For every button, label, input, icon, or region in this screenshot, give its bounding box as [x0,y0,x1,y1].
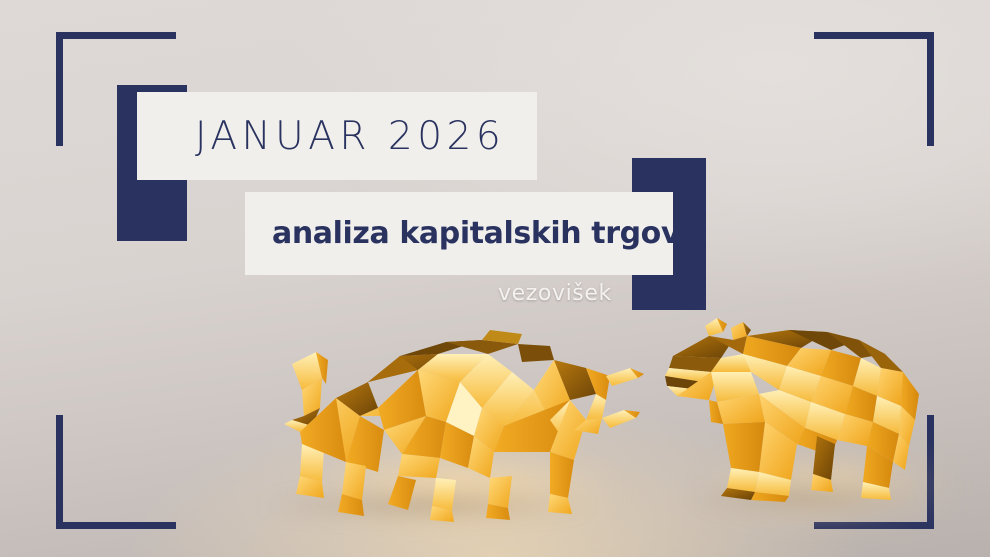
bull-statue-icon [250,312,650,522]
poster-canvas: JANUAR 2026 analiza kapitalskih trgov ve… [0,0,990,557]
corner-bracket-bottom-left-icon [56,415,176,529]
subtitle-card: analiza kapitalskih trgov [245,192,673,275]
corner-bracket-top-right-icon [814,32,934,146]
page-subtitle: analiza kapitalskih trgov [272,216,680,251]
page-title: JANUAR 2026 [195,114,505,159]
title-card: JANUAR 2026 [137,92,537,180]
brand-name: vezovišek [498,281,612,306]
bull-shadow [262,492,592,518]
corner-bracket-bottom-right-icon [814,415,934,529]
bull-glow [300,455,620,525]
